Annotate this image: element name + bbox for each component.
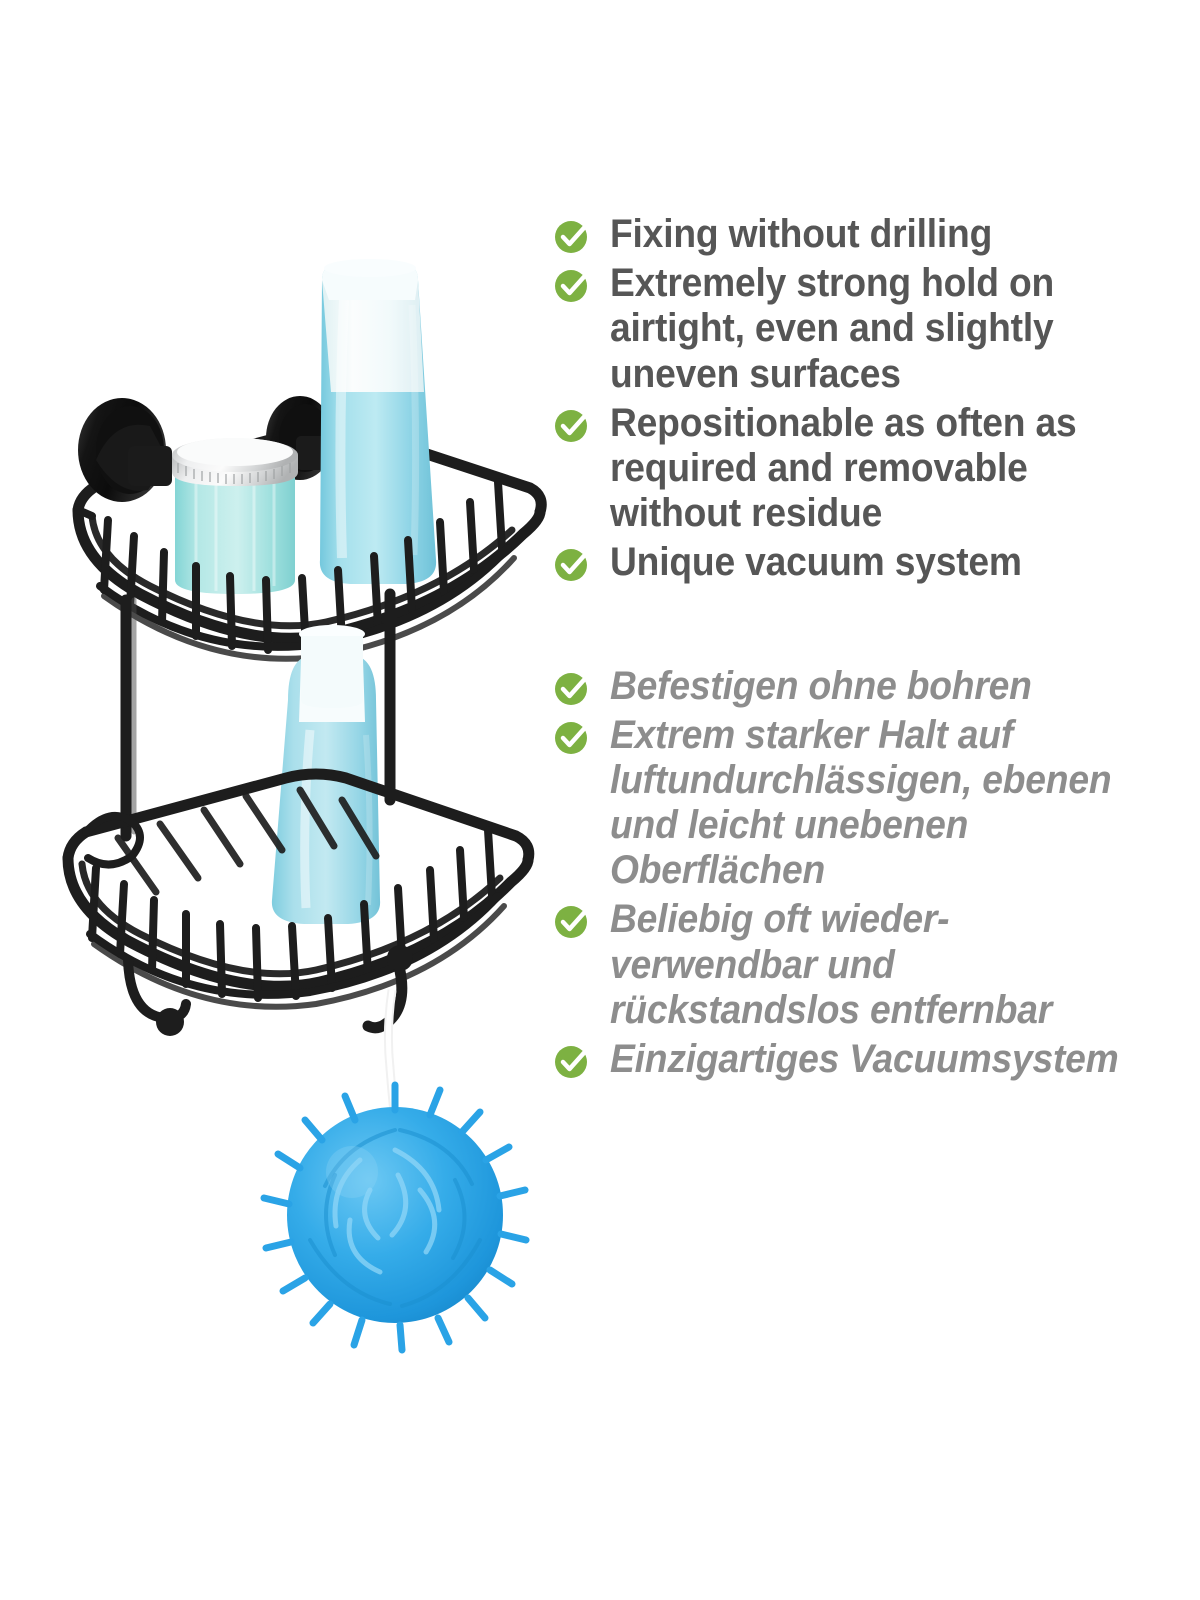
check-circle-icon (552, 901, 596, 941)
check-circle-icon (552, 265, 596, 305)
check-circle-icon (552, 405, 596, 445)
check-circle-icon (552, 1041, 596, 1081)
feature-item: Extremely strong hold on airtight, even … (548, 261, 1188, 397)
feature-item: Befestigen ohne bohren (548, 664, 1188, 709)
check-circle-icon (552, 668, 596, 708)
feature-list-german: Befestigen ohne bohren Extrem starker Ha… (548, 664, 1188, 1083)
feature-text: Unique vacuum system (610, 540, 1148, 585)
feature-text: Extremely strong hold on airtight, even … (610, 261, 1148, 397)
feature-item: Fixing without drilling (548, 212, 1188, 257)
feature-text: Befestigen ohne bohren (610, 664, 1148, 709)
feature-text: Beliebig oft wieder-verwendbar und rücks… (610, 897, 1148, 1033)
feature-item: Extrem starker Halt auf luftundurchlässi… (548, 713, 1188, 894)
product-feature-page: Fixing without drilling Extremely strong… (0, 0, 1200, 1600)
feature-item: Repositionable as often as required and … (548, 401, 1188, 537)
feature-item: Unique vacuum system (548, 540, 1188, 585)
check-circle-icon (552, 216, 596, 256)
vacuum-suction-cup (78, 398, 172, 502)
feature-list-english: Fixing without drilling Extremely strong… (548, 212, 1188, 586)
feature-text: Repositionable as often as required and … (610, 401, 1148, 537)
check-circle-icon (552, 544, 596, 584)
product-image (0, 0, 560, 1600)
feature-text: Extrem starker Halt auf luftundurchlässi… (610, 713, 1148, 894)
cosmetic-jar (172, 438, 298, 594)
feature-item: Beliebig oft wieder-verwendbar und rücks… (548, 897, 1188, 1033)
check-circle-icon (552, 717, 596, 757)
shampoo-bottle (320, 259, 436, 584)
feature-lists: Fixing without drilling Extremely strong… (548, 212, 1188, 1086)
feature-text: Einzigartiges Vacuumsystem (610, 1037, 1148, 1082)
feature-text: Fixing without drilling (610, 212, 1148, 257)
sponge-ball (264, 990, 526, 1350)
feature-item: Einzigartiges Vacuumsystem (548, 1037, 1188, 1082)
